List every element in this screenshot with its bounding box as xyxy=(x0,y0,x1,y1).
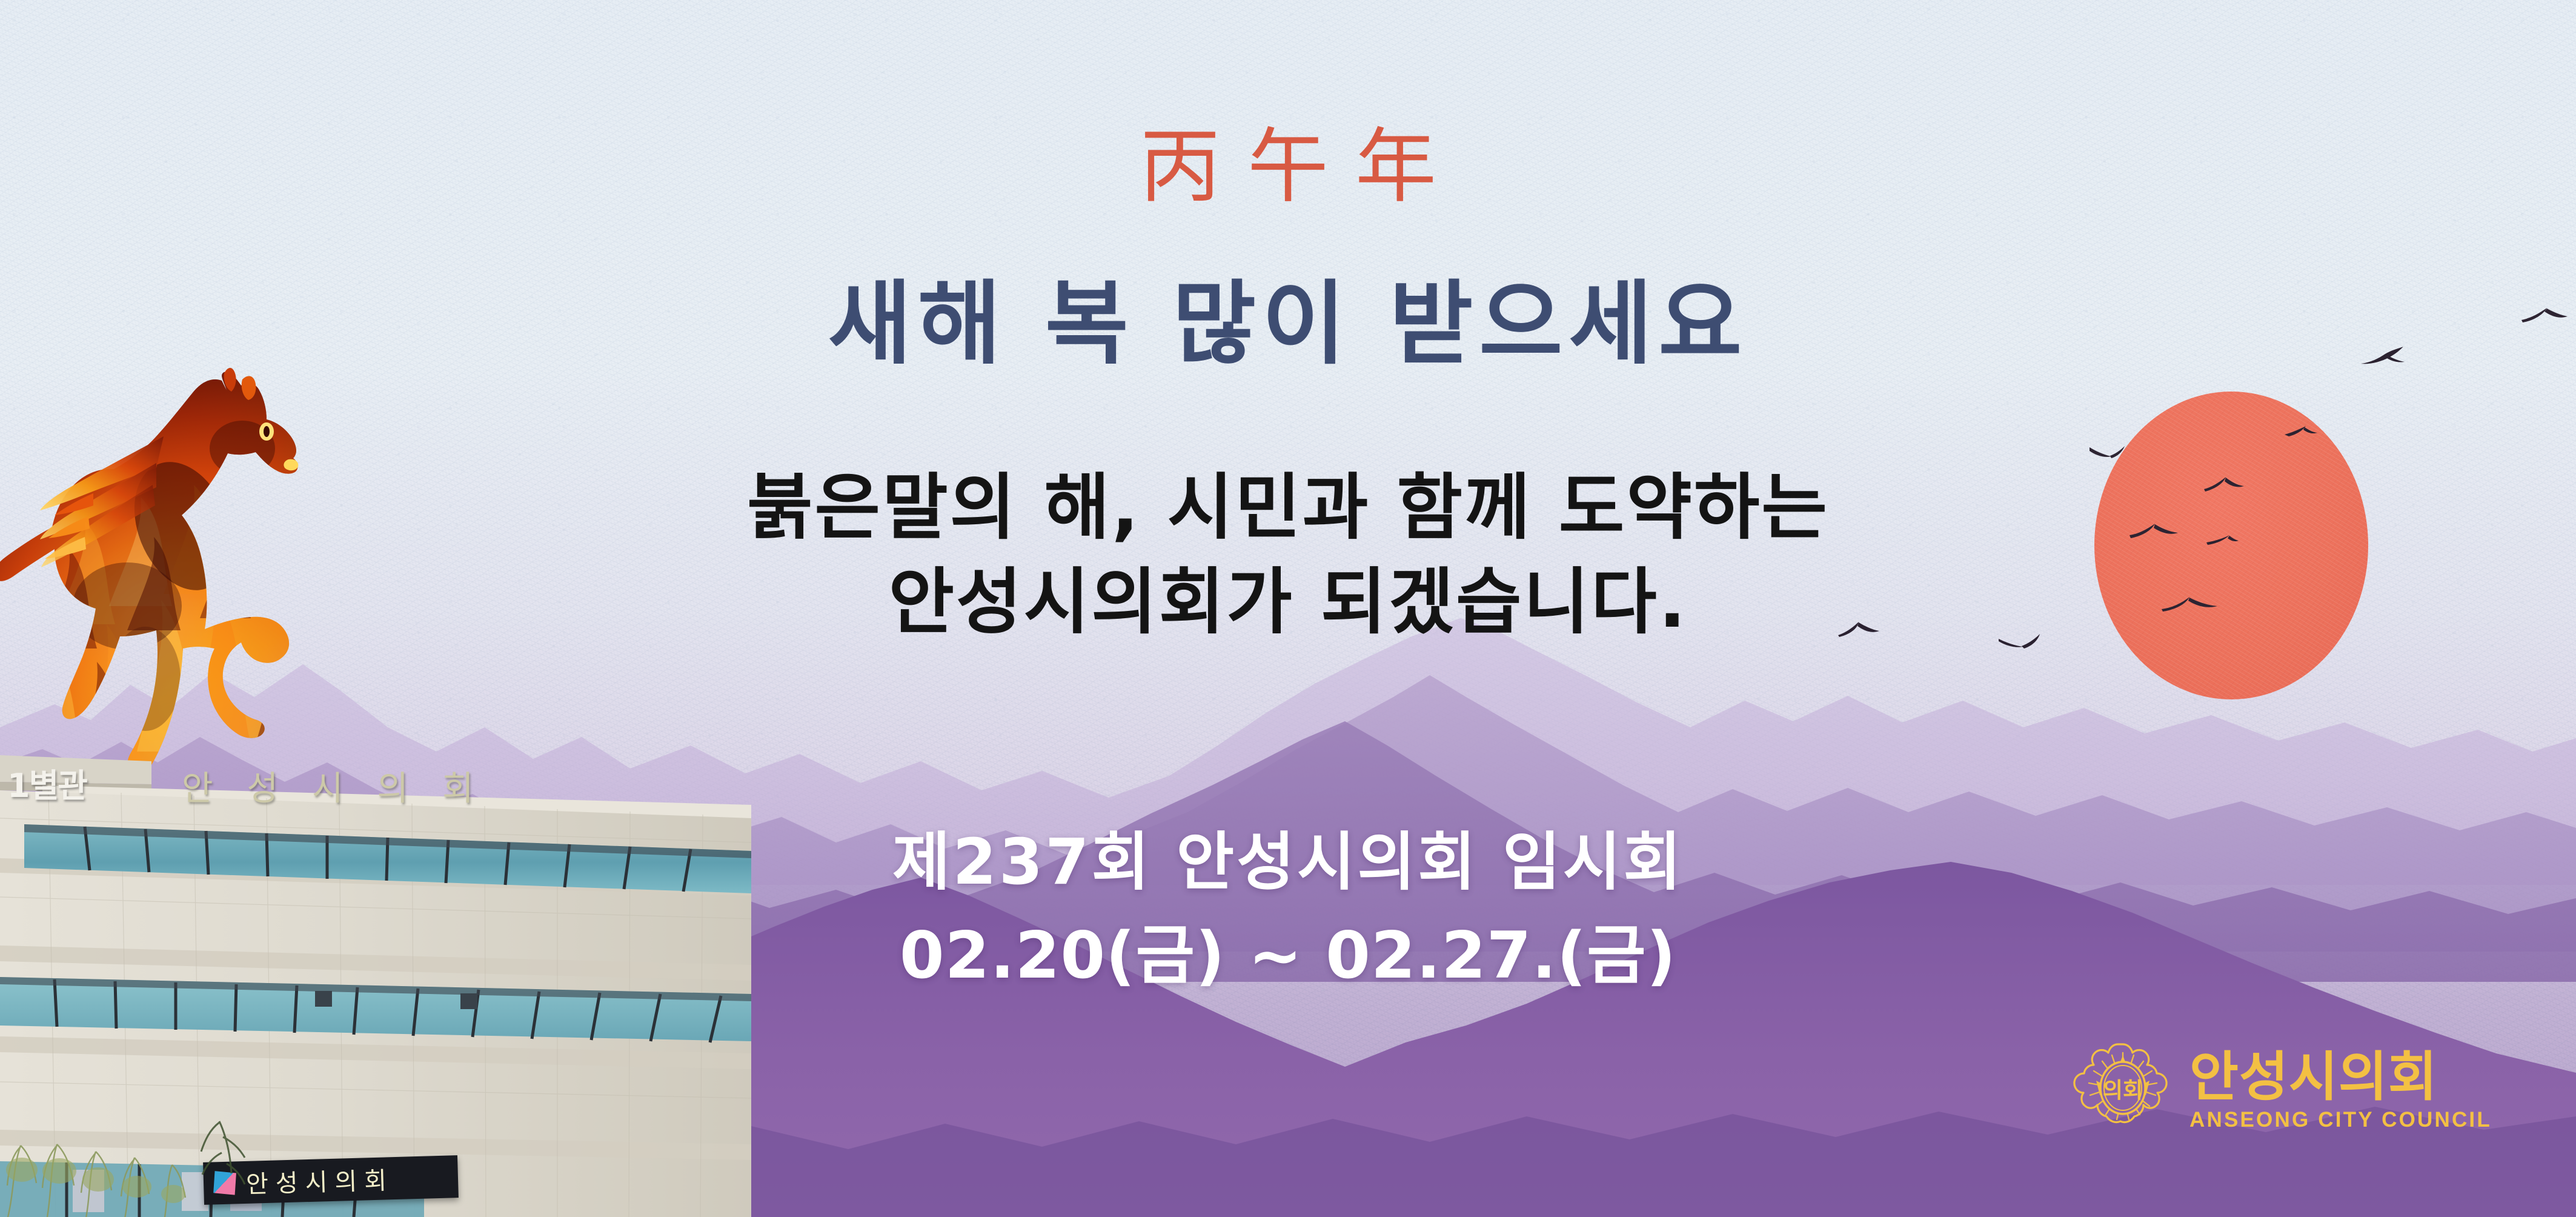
slogan-line-2: 안성시의회가 되겠습니다. xyxy=(0,555,2576,650)
new-year-banner: 1별관 안성시의회 안성시의회 xyxy=(0,0,2576,1217)
slogan-line-1: 붉은말의 해, 시민과 함께 도약하는 xyxy=(747,465,1829,549)
zodiac-year-heading: 丙午年 xyxy=(0,126,2576,207)
council-emblem-icon: 의회 xyxy=(2072,1039,2174,1141)
logo-name-en: ANSEONG CITY COUNCIL xyxy=(2189,1109,2492,1132)
session-dates: 02.20(금) ~ 02.27.(금) xyxy=(0,924,2576,988)
emblem-label: 의회 xyxy=(2072,1073,2174,1104)
slogan: 붉은말의 해, 시민과 함께 도약하는 안성시의회가 되겠습니다. xyxy=(0,461,2576,650)
logo-wordmark: 안성시의회 ANSEONG CITY COUNCIL xyxy=(2189,1049,2492,1132)
new-year-greeting: 새해 복 많이 받으세요 xyxy=(0,279,2576,370)
anseong-city-council-logo: 의회 안성시의회 ANSEONG CITY COUNCIL xyxy=(2072,1021,2496,1160)
session-title: 제237회 안성시의회 임시회 xyxy=(0,830,2576,893)
logo-name-ko: 안성시의회 xyxy=(2189,1049,2492,1105)
